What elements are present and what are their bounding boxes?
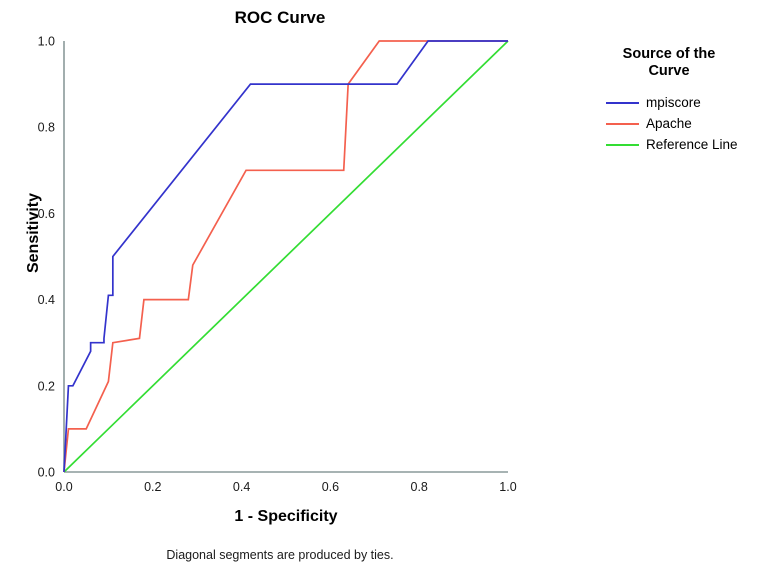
legend-title: Source of the Curve — [606, 46, 732, 80]
legend-swatch-icon — [606, 144, 639, 146]
roc-plot-svg: 0.00.20.40.60.81.00.00.20.40.60.81.0 — [0, 0, 560, 500]
legend-swatch-icon — [606, 102, 639, 104]
legend-item-label: Apache — [646, 117, 692, 131]
y-tick-label: 0.2 — [38, 379, 55, 393]
y-axis-title: Sensitivity — [25, 153, 43, 313]
legend-item-label: mpiscore — [646, 96, 701, 110]
x-tick-label: 1.0 — [499, 480, 516, 494]
x-tick-label: 0.8 — [411, 480, 428, 494]
x-tick-label: 0.6 — [322, 480, 339, 494]
legend-item[interactable]: mpiscore — [606, 93, 756, 112]
legend-swatch-icon — [606, 123, 639, 125]
x-tick-label: 0.2 — [144, 480, 161, 494]
roc-chart-page: ROC Curve 0.00.20.40.60.81.00.00.20.40.6… — [0, 0, 760, 578]
legend-item[interactable]: Apache — [606, 114, 756, 133]
legend-item-label: Reference Line — [646, 138, 738, 152]
y-tick-label: 1.0 — [38, 35, 55, 49]
x-tick-label: 0.4 — [233, 480, 250, 494]
legend-item-list: mpiscoreApacheReference Line — [606, 93, 756, 154]
x-tick-label: 0.0 — [55, 480, 72, 494]
series-line-reference-line — [64, 41, 508, 472]
y-tick-label: 0.8 — [38, 121, 55, 135]
plot-area: 0.00.20.40.60.81.00.00.20.40.60.81.0 Sen… — [0, 0, 560, 500]
footnote: Diagonal segments are produced by ties. — [0, 548, 560, 562]
y-tick-label: 0.0 — [38, 466, 55, 480]
legend: Source of the Curve mpiscoreApacheRefere… — [606, 46, 756, 156]
x-axis-title: 1 - Specificity — [64, 508, 508, 526]
legend-item[interactable]: Reference Line — [606, 135, 756, 154]
